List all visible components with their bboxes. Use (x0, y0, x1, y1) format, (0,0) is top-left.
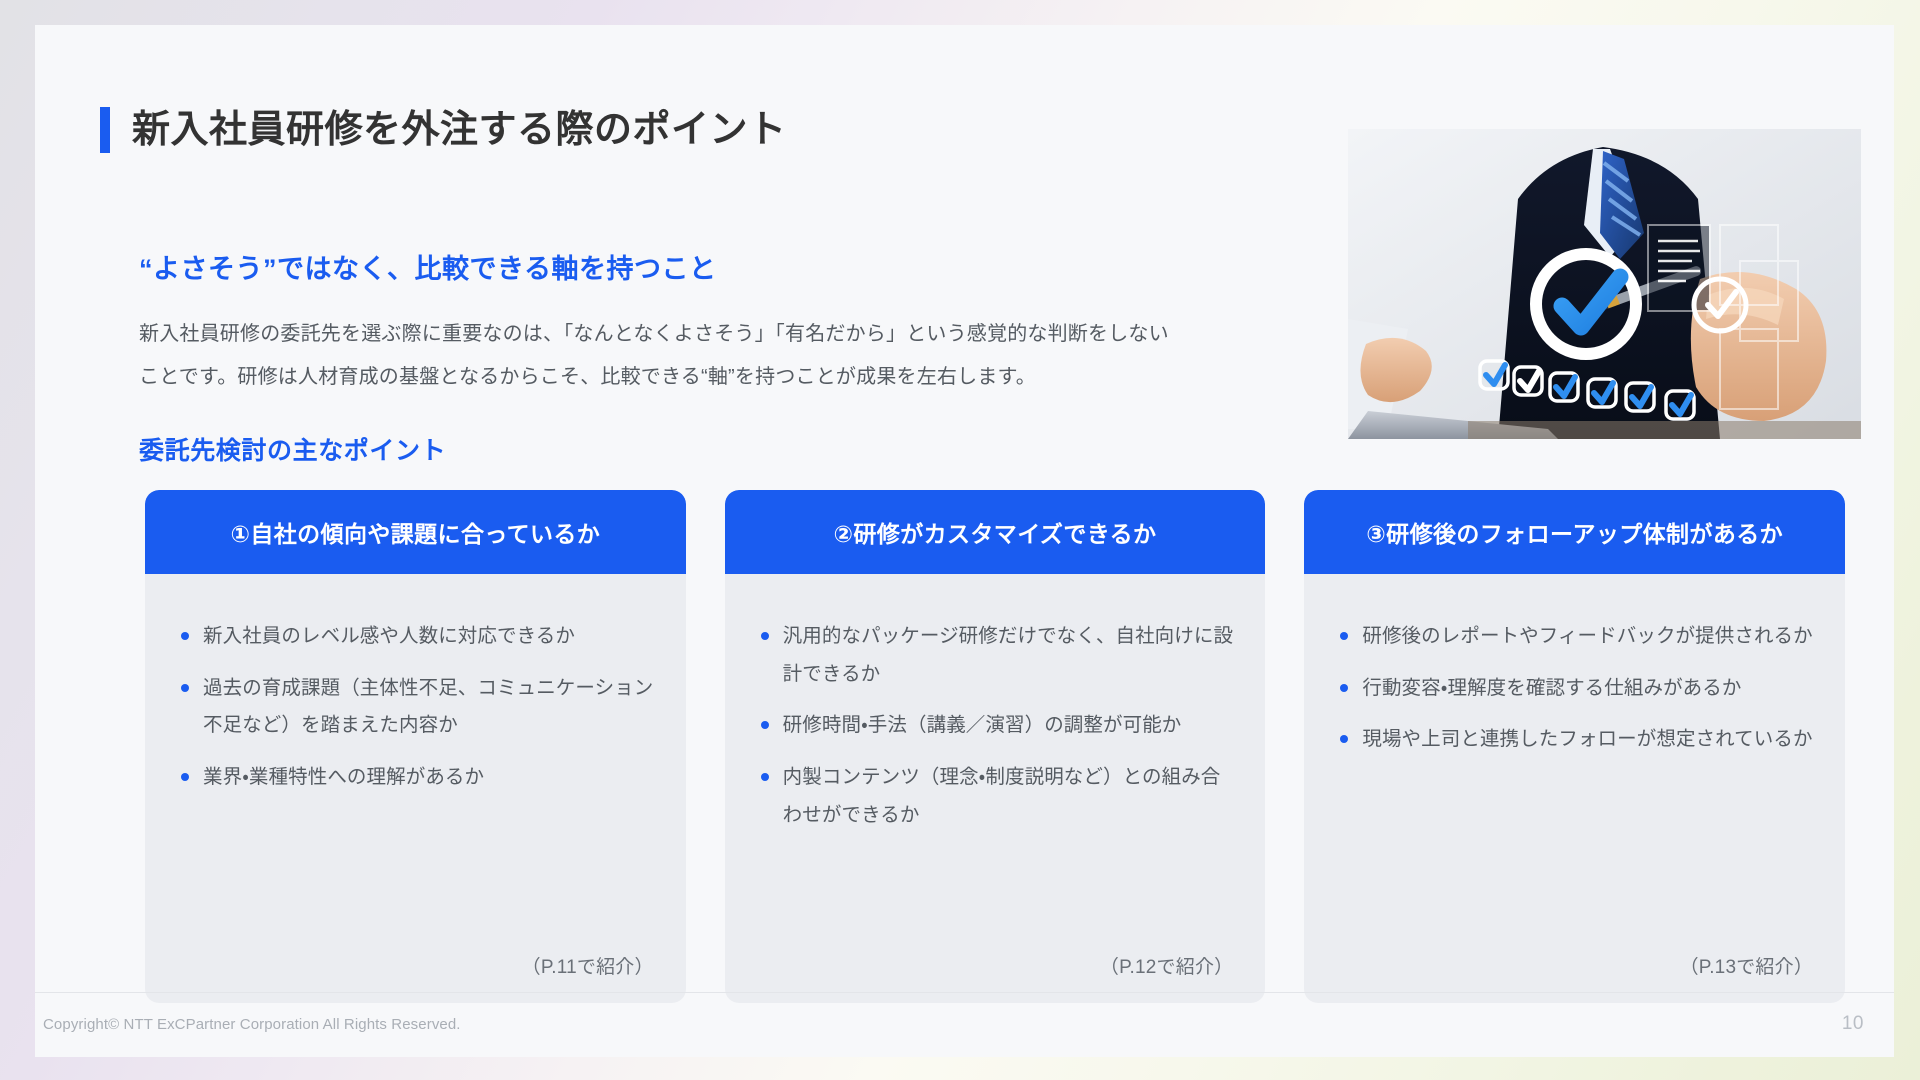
point-card: ③研修後のフォローアップ体制があるか 研修後のレポートやフィードバックが提供され… (1304, 490, 1845, 1003)
point-card-reference: （P.12で紹介） (1100, 952, 1233, 979)
point-card-body: 新入社員のレベル感や人数に対応できるか 過去の育成課題（主体性不足、コミュニケー… (145, 574, 686, 1003)
point-card-body: 研修後のレポートやフィードバックが提供されるか 行動変容・理解度を確認する仕組み… (1304, 574, 1845, 1003)
slide-canvas: 新入社員研修を外注する際のポイント “よさそう”ではなく、比較できる軸を持つこと… (0, 0, 1920, 1080)
point-card-reference: （P.11で紹介） (522, 952, 654, 979)
body-paragraph-line-2: ことです。研修は人材育成の基盤となるからこそ、比較できる“軸”を持つことが成果を… (139, 356, 1319, 399)
point-card: ①自社の傾向や課題に合っているか 新入社員のレベル感や人数に対応できるか 過去の… (145, 490, 686, 1003)
point-card-header: ②研修がカスタマイズできるか (725, 490, 1266, 574)
list-item: 行動変容・理解度を確認する仕組みがあるか (1338, 670, 1815, 708)
list-item: 汎用的なパッケージ研修だけでなく、自社向けに設計できるか (759, 618, 1236, 693)
subheading: “よさそう”ではなく、比較できる軸を持つこと (139, 247, 716, 286)
hero-photo-illustration (1348, 129, 1861, 439)
list-item: 内製コンテンツ（理念・制度説明など）との組み合わせができるか (759, 759, 1236, 834)
copyright-text: Copyright© NTT ExCPartner Corporation Al… (43, 1016, 461, 1033)
point-card-reference: （P.13で紹介） (1680, 952, 1813, 979)
point-card-bullet-list: 汎用的なパッケージ研修だけでなく、自社向けに設計できるか 研修時間・手法（講義／… (759, 618, 1236, 834)
points-card-row: ①自社の傾向や課題に合っているか 新入社員のレベル感や人数に対応できるか 過去の… (145, 490, 1845, 1003)
hero-photo (1348, 129, 1861, 439)
point-card-header: ③研修後のフォローアップ体制があるか (1304, 490, 1845, 574)
list-item: 研修後のレポートやフィードバックが提供されるか (1338, 618, 1815, 656)
list-item: 現場や上司と連携したフォローが想定されているか (1338, 721, 1815, 759)
page-number: 10 (1842, 1013, 1864, 1035)
point-card-body: 汎用的なパッケージ研修だけでなく、自社向けに設計できるか 研修時間・手法（講義／… (725, 574, 1266, 1003)
point-card: ②研修がカスタマイズできるか 汎用的なパッケージ研修だけでなく、自社向けに設計で… (725, 490, 1266, 1003)
page-title: 新入社員研修を外注する際のポイント (100, 107, 787, 153)
section-heading: 委託先検討の主なポイント (139, 431, 446, 467)
list-item: 研修時間・手法（講義／演習）の調整が可能か (759, 707, 1236, 745)
point-card-bullet-list: 新入社員のレベル感や人数に対応できるか 過去の育成課題（主体性不足、コミュニケー… (179, 618, 656, 797)
footer-divider (35, 992, 1894, 993)
point-card-bullet-list: 研修後のレポートやフィードバックが提供されるか 行動変容・理解度を確認する仕組み… (1338, 618, 1815, 759)
list-item: 業界・業種特性への理解があるか (179, 759, 656, 797)
body-paragraph: 新入社員研修の委託先を選ぶ際に重要なのは、「なんとなくよさそう」「有名だから」と… (139, 313, 1319, 399)
point-card-header: ①自社の傾向や課題に合っているか (145, 490, 686, 574)
list-item: 新入社員のレベル感や人数に対応できるか (179, 618, 656, 656)
list-item: 過去の育成課題（主体性不足、コミュニケーション不足など）を踏まえた内容か (179, 670, 656, 745)
body-paragraph-line-1: 新入社員研修の委託先を選ぶ際に重要なのは、「なんとなくよさそう」「有名だから」と… (139, 313, 1319, 356)
title-accent-bar (100, 107, 110, 153)
slide-sheet: 新入社員研修を外注する際のポイント “よさそう”ではなく、比較できる軸を持つこと… (35, 25, 1894, 1057)
title-text: 新入社員研修を外注する際のポイント (132, 111, 787, 149)
